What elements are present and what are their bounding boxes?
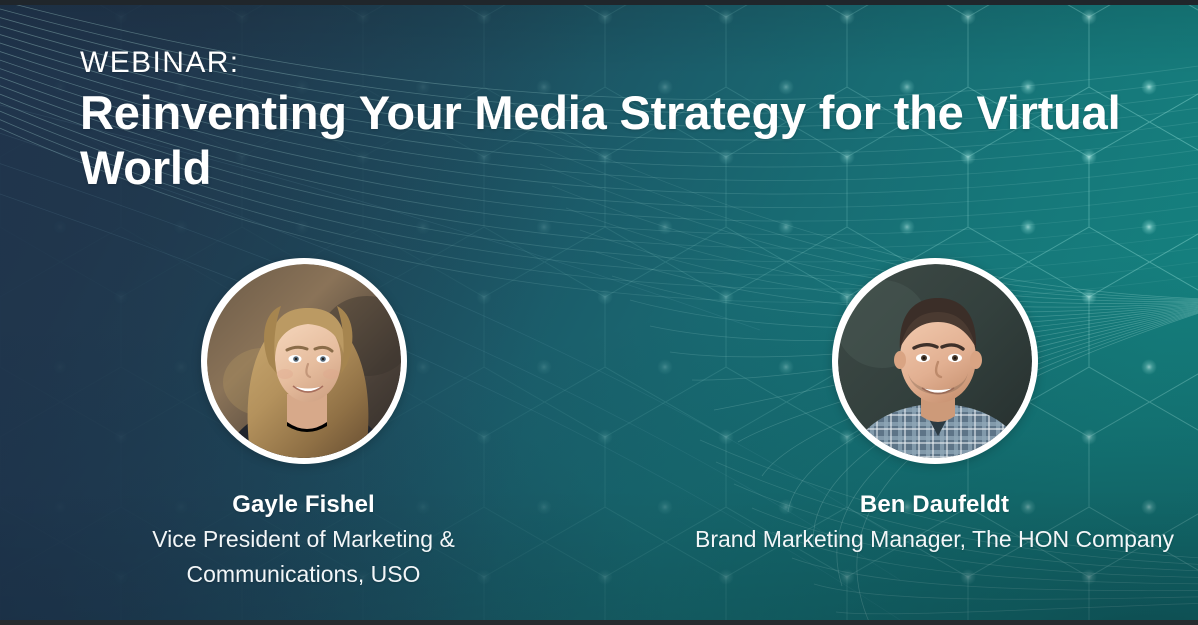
speaker-name: Ben Daufeldt xyxy=(860,490,1009,520)
avatar xyxy=(201,258,407,464)
webinar-banner: WEBINAR: Reinventing Your Media Strategy… xyxy=(0,0,1198,625)
speaker-card-gayle-fishel: Gayle Fishel Vice President of Marketing… xyxy=(0,258,603,592)
avatar-photo-ben-daufeldt xyxy=(838,264,1032,458)
page-title: Reinventing Your Media Strategy for the … xyxy=(80,85,1125,195)
webinar-eyebrow: WEBINAR: xyxy=(80,44,1140,82)
speaker-card-ben-daufeldt: Ben Daufeldt Brand Marketing Manager, Th… xyxy=(603,258,1198,592)
bottom-edge-strip xyxy=(0,620,1198,625)
speaker-role: Vice President of Marketing & Communicat… xyxy=(69,522,539,592)
avatar xyxy=(832,258,1038,464)
avatar-photo-gayle-fishel xyxy=(207,264,401,458)
top-edge-strip xyxy=(0,0,1198,5)
headline-block: WEBINAR: Reinventing Your Media Strategy… xyxy=(80,44,1140,195)
speaker-list: Gayle Fishel Vice President of Marketing… xyxy=(0,258,1198,592)
speaker-role: Brand Marketing Manager, The HON Company xyxy=(695,522,1174,557)
speaker-name: Gayle Fishel xyxy=(232,490,375,520)
